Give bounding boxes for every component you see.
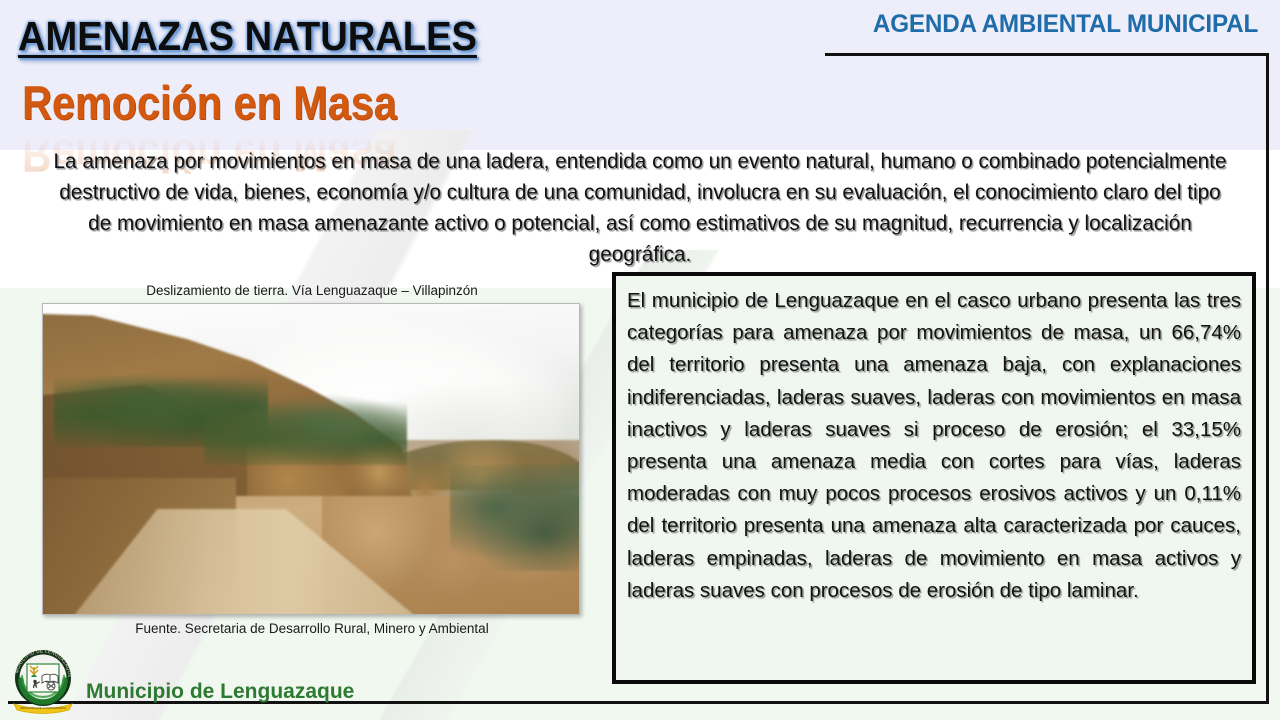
photo-caption-source: Fuente. Secretaria de Desarrollo Rural, … (42, 621, 582, 636)
page-subtitle: Remoción en Masa (22, 78, 397, 128)
frame-top-rule (825, 53, 1268, 56)
slide-canvas: AGENDA AMBIENTAL MUNICIPAL AMENAZAS NATU… (0, 0, 1280, 720)
frame-right-rule (1266, 53, 1269, 704)
intro-paragraph: La amenaza por movimientos en masa de un… (49, 146, 1230, 270)
info-text-box: El municipio de Lenguazaque en el casco … (612, 272, 1256, 684)
coat-of-arms-icon: MUNICIPIO DE LENGUAZAQUE (8, 646, 78, 716)
footer-municipality-label: Municipio de Lenguazaque (86, 680, 354, 704)
agenda-header-title: AGENDA AMBIENTAL MUNICIPAL (873, 10, 1258, 39)
landslide-photo (42, 303, 580, 615)
info-box-paragraph: El municipio de Lenguazaque en el casco … (627, 285, 1241, 607)
photo-soft-focus-overlay (43, 304, 579, 614)
page-title: AMENAZAS NATURALES (18, 14, 477, 58)
svg-text:LENGUAZAQUE CUNDINAMARCA: LENGUAZAQUE CUNDINAMARCA (20, 706, 66, 710)
photo-caption-top: Deslizamiento de tierra. Vía Lenguazaque… (42, 283, 582, 298)
